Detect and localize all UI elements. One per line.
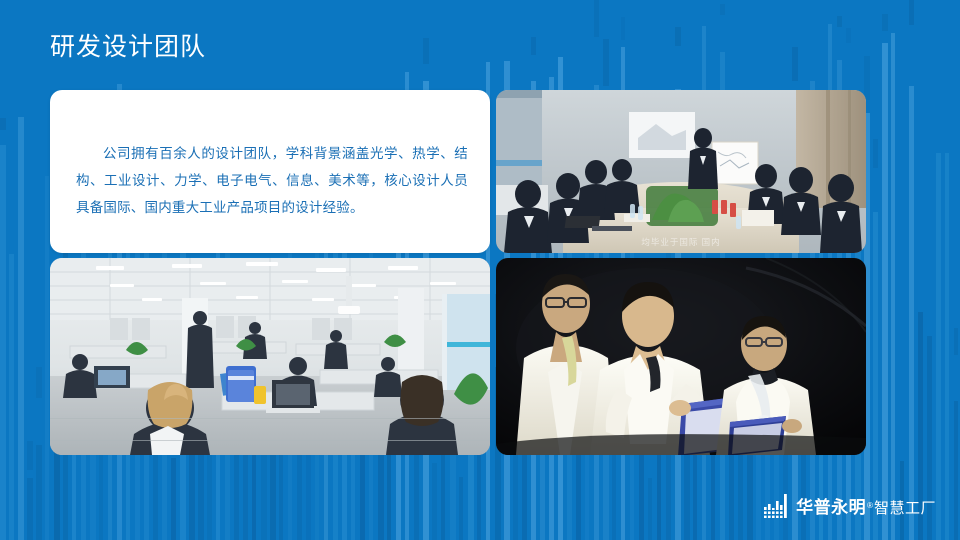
photo-meeting-image: 均毕业于国际 国内	[496, 90, 866, 253]
photo-meeting-caption: 均毕业于国际 国内	[496, 236, 866, 248]
logo-brand-name: 华普永明	[796, 493, 866, 518]
description-paragraph: 公司拥有百余人的设计团队，学科背景涵盖光学、热学、结构、工业设计、力学、电子电气…	[76, 140, 468, 221]
logo-text: 华普永明 ® 智慧工厂	[796, 493, 936, 518]
photo-meeting: 均毕业于国际 国内	[496, 90, 866, 253]
photo-office-image	[50, 258, 490, 455]
page-title: 研发设计团队	[50, 31, 206, 63]
footer-logo: 华普永明 ® 智慧工厂	[763, 493, 936, 518]
photo-engineers-image	[496, 258, 866, 455]
logo-tagline: 智慧工厂	[874, 497, 936, 518]
photo-engineers	[496, 258, 866, 455]
content-grid: 公司拥有百余人的设计团队，学科背景涵盖光学、热学、结构、工业设计、力学、电子电气…	[50, 90, 866, 455]
registered-mark-icon: ®	[867, 501, 873, 510]
bar-chart-logo-icon	[763, 494, 789, 518]
description-card: 公司拥有百余人的设计团队，学科背景涵盖光学、热学、结构、工业设计、力学、电子电气…	[50, 90, 490, 253]
slide-root: 研发设计团队 公司拥有百余人的设计团队，学科背景涵盖光学、热学、结构、工业设计、…	[0, 0, 960, 540]
photo-office	[50, 258, 490, 455]
